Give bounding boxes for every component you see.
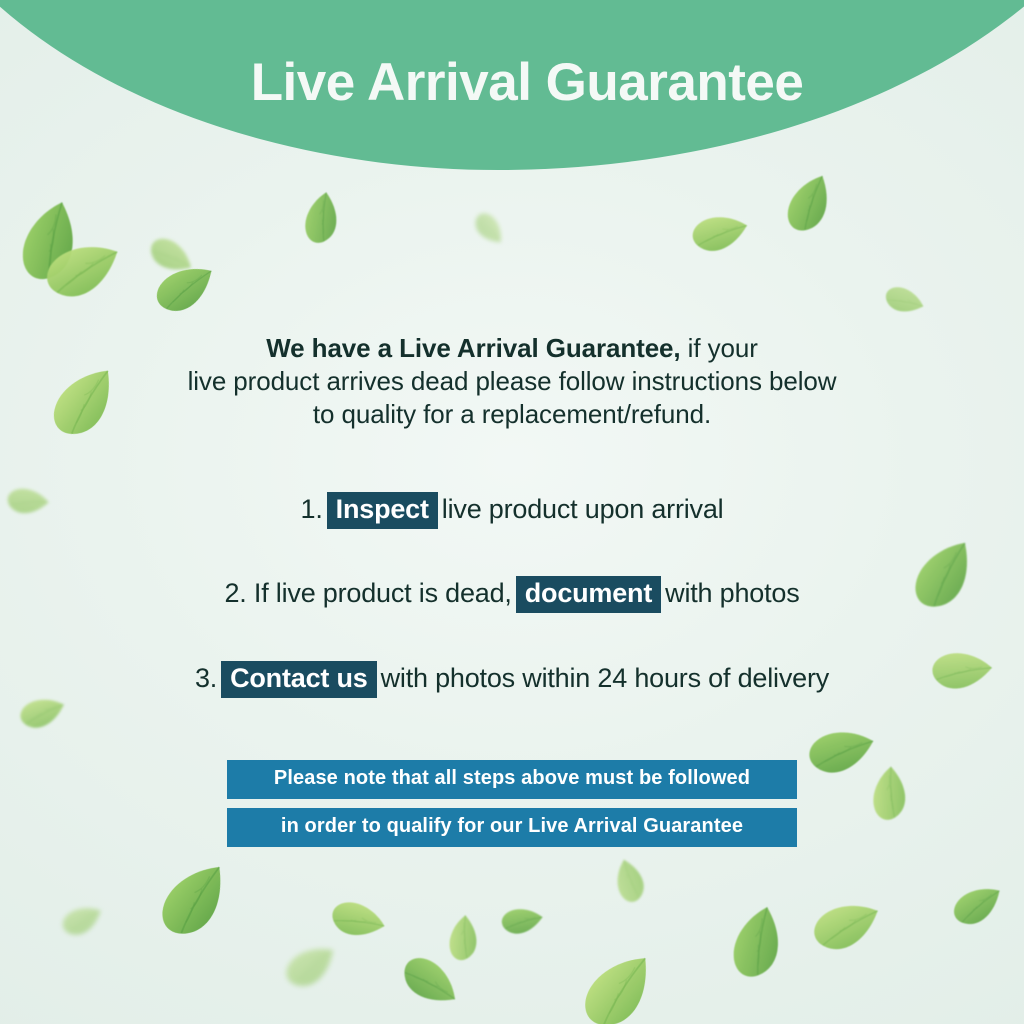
page-title: Live Arrival Guarantee bbox=[0, 52, 1024, 113]
leaf-icon bbox=[945, 875, 1004, 934]
step-3-after: with photos within 24 hours of delivery bbox=[381, 663, 829, 693]
leaf-icon bbox=[146, 252, 217, 323]
step-2-before: If live product is dead, bbox=[254, 578, 512, 608]
step-1-number: 1. bbox=[301, 494, 323, 524]
leaf-icon bbox=[285, 185, 355, 255]
leaf-icon bbox=[320, 882, 392, 954]
leaf-icon bbox=[770, 168, 844, 242]
leaf-icon bbox=[571, 948, 659, 1024]
intro-line-1: We have a Live Arrival Guarantee, if you… bbox=[0, 332, 1024, 365]
step-3-highlight: Contact us bbox=[221, 661, 377, 698]
step-item-2: 2. If live product is dead,documentwith … bbox=[0, 576, 1024, 613]
intro-line-1-rest: if your bbox=[681, 333, 758, 363]
step-item-1: 1.Inspectlive product upon arrival bbox=[0, 492, 1024, 529]
leaf-icon bbox=[707, 897, 803, 993]
intro-line-3: to quality for a replacement/refund. bbox=[0, 398, 1024, 431]
note-bar-line-2: in order to qualify for our Live Arrival… bbox=[227, 808, 797, 847]
leaf-icon bbox=[395, 945, 462, 1012]
leaf-icon bbox=[147, 857, 235, 945]
leaf-icon bbox=[0, 191, 100, 296]
leaf-icon bbox=[877, 273, 928, 324]
leaf-icon bbox=[600, 854, 657, 911]
step-item-3: 3.Contact uswith photos within 24 hours … bbox=[0, 661, 1024, 698]
leaf-icon bbox=[431, 909, 493, 971]
leaf-icon bbox=[32, 222, 125, 315]
leaf-icon bbox=[492, 892, 548, 948]
intro-lead-text: We have a Live Arrival Guarantee, bbox=[266, 333, 680, 363]
step-2-after: with photos bbox=[665, 578, 799, 608]
note-block: Please note that all steps above must be… bbox=[0, 760, 1024, 856]
leaf-icon bbox=[680, 195, 754, 269]
step-3-number: 3. bbox=[195, 663, 217, 693]
step-1-highlight: Inspect bbox=[327, 492, 438, 529]
leaf-icon bbox=[55, 895, 105, 945]
leaf-icon bbox=[801, 883, 886, 968]
leaf-icon bbox=[471, 209, 508, 246]
step-2-highlight: document bbox=[516, 576, 661, 613]
step-1-after: live product upon arrival bbox=[442, 494, 724, 524]
intro-line-2: live product arrives dead please follow … bbox=[0, 365, 1024, 398]
leaf-icon bbox=[143, 227, 197, 281]
step-2-number: 2. bbox=[224, 578, 246, 608]
live-arrival-guarantee-graphic: Live Arrival Guarantee We have a Live Ar… bbox=[0, 0, 1024, 1024]
note-bar-line-1: Please note that all steps above must be… bbox=[227, 760, 797, 799]
intro-paragraph: We have a Live Arrival Guarantee, if you… bbox=[0, 332, 1024, 431]
leaf-icon bbox=[278, 936, 338, 996]
